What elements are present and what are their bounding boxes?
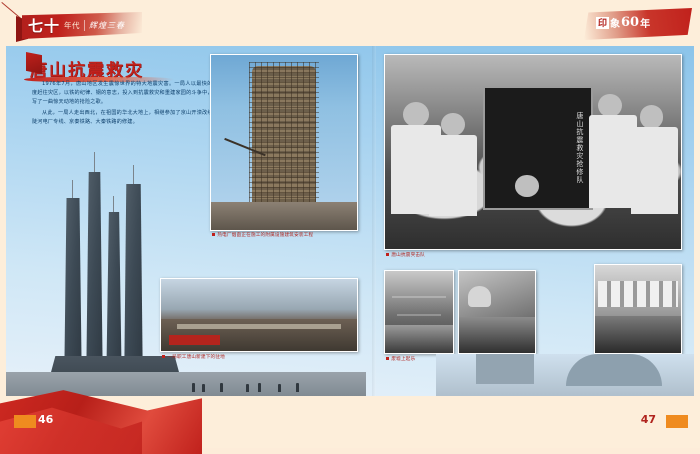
medical-foreground bbox=[595, 316, 681, 353]
page-tab-right bbox=[666, 415, 688, 428]
header-band: 七十 年代 辉煌三春 印 象 60 年 bbox=[0, 0, 700, 46]
page-number-left: 46 bbox=[38, 413, 53, 426]
series-number-label: 60 bbox=[621, 15, 639, 30]
page-gutter bbox=[372, 46, 376, 398]
caption-bullet-icon bbox=[386, 357, 389, 360]
crowd-head bbox=[441, 113, 465, 136]
photo-tower-construction[interactable] bbox=[210, 54, 358, 231]
photo-tower-image bbox=[211, 55, 357, 230]
photo-rescue-work[interactable] bbox=[458, 270, 536, 354]
series-tail-label: 年 bbox=[640, 15, 650, 30]
magazine-spread: 七十 年代 辉煌三春 印 象 60 年 唐山抗震救灾 bbox=[0, 0, 700, 448]
caption-ruins: 废墟上起乐 bbox=[386, 356, 415, 362]
caption-worker-camp: 一局职工唐山新建下的驻地 bbox=[162, 354, 225, 360]
caption-tower-text: 热电厂烟囱正在施工的附属设施建筑安装工程 bbox=[217, 233, 313, 238]
footer-strip: 46 47 bbox=[0, 396, 700, 448]
caption-ruins-text: 废墟上起乐 bbox=[391, 357, 415, 362]
crowd-body bbox=[631, 127, 678, 214]
ruins-debris-line bbox=[392, 296, 446, 298]
red-flag-icon bbox=[26, 52, 42, 74]
background-building-block bbox=[476, 354, 534, 384]
crowd-head bbox=[515, 175, 539, 196]
caption-bullet-icon bbox=[162, 355, 165, 358]
spread-canvas: 唐山抗震救灾 1976年7月，唐山地区发生震惊世界的特大地震灾害。一局人以最快的… bbox=[6, 46, 694, 398]
ruins-debris-line bbox=[397, 314, 441, 316]
monument-spire-1 bbox=[72, 180, 73, 198]
photo-earthquake-brigade[interactable]: 唐山抗震救灾抢修队 bbox=[384, 54, 682, 250]
era-ribbon-left: 七十 年代 辉煌三春 bbox=[22, 12, 142, 39]
tower-scaffolding bbox=[249, 62, 319, 223]
monument-spire-3 bbox=[113, 196, 114, 212]
monument-spire-4 bbox=[133, 165, 134, 184]
series-ribbon-right: 印 象 60 年 bbox=[584, 8, 692, 40]
photo-camp-image bbox=[161, 279, 357, 351]
era-number-label: 七十 bbox=[28, 15, 60, 36]
page-tab-left bbox=[14, 415, 36, 428]
caption-brigade-text: 唐山抗震突击队 bbox=[391, 253, 425, 258]
plaza-figure bbox=[202, 384, 205, 392]
camp-roofline bbox=[177, 324, 342, 330]
photo-brigade-image: 唐山抗震救灾抢修队 bbox=[385, 55, 681, 249]
article-heading-group: 唐山抗震救灾 bbox=[30, 56, 144, 81]
series-badge-label: 印 bbox=[596, 17, 609, 29]
plaza-figure bbox=[258, 383, 261, 392]
camp-red-banner bbox=[169, 335, 220, 345]
crowd-head bbox=[640, 105, 664, 128]
photo-rescue-image bbox=[459, 271, 535, 353]
plaza-figure bbox=[296, 383, 299, 392]
article-paragraph-1: 1976年7月，唐山地区发生震惊世界的特大地震灾害。一局人以最快的速度赶往灾区，… bbox=[32, 80, 218, 107]
crowd-head bbox=[598, 94, 622, 117]
photo-medical-image bbox=[595, 265, 681, 353]
background-dome-building bbox=[566, 354, 662, 386]
caption-camp-text: 一局职工唐山新建下的驻地 bbox=[167, 355, 225, 360]
monument-spire-2 bbox=[94, 152, 95, 172]
photo-medical-team[interactable] bbox=[594, 264, 682, 354]
crowd-head bbox=[403, 102, 430, 127]
photo-worker-camp[interactable] bbox=[160, 278, 358, 352]
page-number-right: 47 bbox=[641, 413, 656, 426]
caption-bullet-icon bbox=[386, 253, 389, 256]
nurses-row bbox=[598, 281, 677, 307]
crowd-body bbox=[429, 135, 476, 216]
era-subtitle-label: 辉煌三春 bbox=[89, 20, 125, 31]
caption-bullet-icon bbox=[212, 233, 215, 236]
ribbon-divider bbox=[84, 20, 85, 31]
photo-ruins[interactable] bbox=[384, 270, 454, 354]
caption-tower-construction: 热电厂烟囱正在施工的附属设施建筑安装工程 bbox=[212, 232, 313, 238]
crowd-body bbox=[589, 115, 636, 208]
era-suffix-label: 年代 bbox=[64, 20, 80, 31]
plaza-figure bbox=[220, 383, 223, 392]
series-word-label: 象 bbox=[610, 15, 620, 30]
plaza-figure bbox=[278, 384, 281, 392]
article-paragraph-2: 从此，一局人走出西北，在祖国的华北大地上，相继参加了京山开滦改线、陡河电厂专线、… bbox=[32, 109, 218, 127]
caption-earthquake-brigade: 唐山抗震突击队 bbox=[386, 252, 425, 258]
article-body: 1976年7月，唐山地区发生震惊世界的特大地震灾害。一局人以最快的速度赶往灾区，… bbox=[32, 80, 218, 129]
tower-ground bbox=[211, 202, 357, 230]
rescue-worker bbox=[468, 286, 491, 307]
commemorative-blackboard: 唐山抗震救灾抢修队 bbox=[483, 86, 594, 210]
photo-ruins-image bbox=[385, 271, 453, 353]
ruins-rubble bbox=[385, 325, 453, 353]
plaza-figure bbox=[246, 384, 249, 392]
rescue-rubble bbox=[459, 317, 535, 353]
plaza-figure bbox=[192, 383, 195, 392]
